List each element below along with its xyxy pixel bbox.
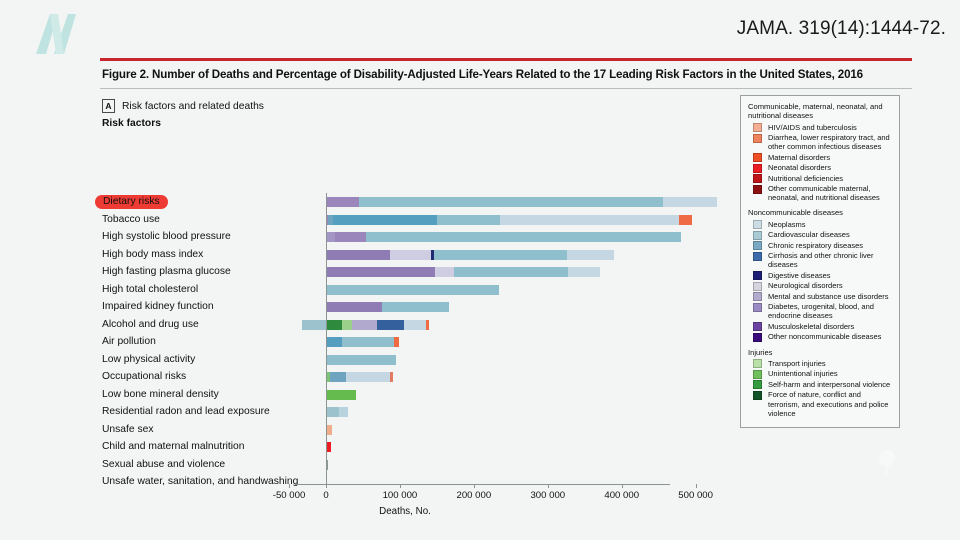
risk-factor-label: High fasting plasma glucose bbox=[102, 263, 231, 281]
legend-label: Force of nature, conflict and terrorism,… bbox=[768, 390, 893, 418]
legend-group-title: Communicable, maternal, neonatal, and nu… bbox=[748, 102, 893, 121]
x-axis-tick-label: 0 bbox=[323, 490, 328, 501]
legend-item[interactable]: Neoplasms bbox=[748, 220, 893, 230]
risk-factor-label: Residential radon and lead exposure bbox=[102, 403, 270, 421]
legend-label: Diarrhea, lower respiratory tract, and o… bbox=[768, 133, 893, 151]
legend-item[interactable]: Unintentional injuries bbox=[748, 369, 893, 379]
legend-label: Nutritional deficiencies bbox=[768, 174, 843, 183]
legend-label: Musculoskeletal disorders bbox=[768, 322, 854, 331]
legend-swatch bbox=[753, 380, 762, 389]
legend-label: Self-harm and interpersonal violence bbox=[768, 380, 890, 389]
x-axis-title: Deaths, No. bbox=[379, 506, 431, 517]
bar-segment bbox=[500, 215, 679, 225]
legend-group-title: Noncommunicable diseases bbox=[748, 208, 893, 217]
legend-swatch bbox=[753, 370, 762, 379]
legend-item[interactable]: Self-harm and interpersonal violence bbox=[748, 380, 893, 390]
legend-label: Mental and substance use disorders bbox=[768, 292, 889, 301]
chart-plot-area: Dietary risksTobacco useHigh systolic bl… bbox=[100, 193, 740, 493]
x-axis-tick bbox=[696, 484, 697, 488]
risk-factor-label: Unsafe sex bbox=[102, 421, 154, 439]
bar-segment bbox=[434, 250, 567, 260]
x-axis-line bbox=[295, 484, 670, 485]
legend-label: Transport injuries bbox=[768, 359, 826, 368]
bar-segment bbox=[663, 197, 717, 207]
legend-item[interactable]: Other communicable maternal, neonatal, a… bbox=[748, 184, 893, 202]
bar-segment bbox=[435, 267, 454, 277]
legend-item[interactable]: Cirrhosis and other chronic liver diseas… bbox=[748, 251, 893, 269]
risk-factor-label: Impaired kidney function bbox=[102, 298, 214, 316]
chart-legend: Communicable, maternal, neonatal, and nu… bbox=[740, 95, 900, 428]
risk-factor-label: Occupational risks bbox=[102, 368, 186, 386]
legend-label: Neurological disorders bbox=[768, 281, 843, 290]
x-axis-tick bbox=[289, 484, 290, 488]
legend-label: Neoplasms bbox=[768, 220, 806, 229]
legend-swatch bbox=[753, 134, 762, 143]
legend-item[interactable]: Nutritional deficiencies bbox=[748, 174, 893, 184]
legend-swatch bbox=[753, 292, 762, 301]
bar-segment bbox=[437, 215, 500, 225]
risk-factor-label: Child and maternal malnutrition bbox=[102, 438, 245, 456]
bar-segment bbox=[326, 267, 435, 277]
bar-segment bbox=[339, 407, 348, 417]
zero-axis-line bbox=[326, 193, 327, 484]
risk-factor-label: Low physical activity bbox=[102, 351, 195, 369]
legend-label: Unintentional injuries bbox=[768, 369, 838, 378]
x-axis-tick bbox=[474, 484, 475, 488]
bar-segment bbox=[390, 372, 392, 382]
panel-letter-badge: A bbox=[102, 99, 115, 113]
x-axis-tick-label: 200 000 bbox=[457, 490, 492, 501]
legend-swatch bbox=[753, 282, 762, 291]
x-axis-tick-label: 400 000 bbox=[604, 490, 639, 501]
risk-factor-label: Low bone mineral density bbox=[102, 386, 219, 404]
bar-segment bbox=[342, 337, 394, 347]
bar-segment bbox=[404, 320, 426, 330]
legend-label: Other noncommunicable diseases bbox=[768, 332, 881, 341]
legend-label: Diabetes, urogenital, blood, and endocri… bbox=[768, 302, 893, 320]
legend-label: Chronic respiratory diseases bbox=[768, 241, 863, 250]
legend-item[interactable]: Other noncommunicable diseases bbox=[748, 332, 893, 342]
bar-segment bbox=[326, 390, 356, 400]
figure-panel: Figure 2. Number of Deaths and Percentag… bbox=[100, 62, 912, 502]
legend-swatch bbox=[753, 303, 762, 312]
bar-segment bbox=[326, 320, 342, 330]
legend-swatch bbox=[753, 123, 762, 132]
legend-swatch bbox=[753, 220, 762, 229]
bar-segment bbox=[359, 197, 664, 207]
x-axis-tick bbox=[622, 484, 623, 488]
bar-segment bbox=[679, 215, 692, 225]
legend-swatch bbox=[753, 322, 762, 331]
bar-segment bbox=[335, 232, 366, 242]
x-axis-tick bbox=[400, 484, 401, 488]
legend-swatch bbox=[753, 359, 762, 368]
x-axis-tick-label: 300 000 bbox=[530, 490, 565, 501]
legend-item[interactable]: Cardiovascular diseases bbox=[748, 230, 893, 240]
n-logo bbox=[24, 10, 86, 56]
legend-swatch bbox=[753, 164, 762, 173]
bar-segment bbox=[394, 337, 399, 347]
legend-swatch bbox=[753, 174, 762, 183]
title-divider bbox=[100, 88, 912, 89]
bar-segment bbox=[382, 302, 449, 312]
legend-label: Cardiovascular diseases bbox=[768, 230, 850, 239]
journal-citation: JAMA. 319(14):1444-72. bbox=[737, 18, 946, 40]
x-axis-tick-label: -50 000 bbox=[273, 490, 306, 501]
bar-segment bbox=[333, 215, 437, 225]
legend-swatch bbox=[753, 241, 762, 250]
legend-label: Cirrhosis and other chronic liver diseas… bbox=[768, 251, 893, 269]
bar-segment bbox=[326, 197, 359, 207]
bar-segment bbox=[346, 372, 390, 382]
figure-title: Figure 2. Number of Deaths and Percentag… bbox=[100, 62, 912, 88]
bar-segment bbox=[326, 285, 499, 295]
bar-segment bbox=[330, 372, 346, 382]
bar-segment bbox=[366, 232, 681, 242]
risk-factor-label: Unsafe water, sanitation, and handwashin… bbox=[102, 473, 298, 491]
legend-item[interactable]: Mental and substance use disorders bbox=[748, 292, 893, 302]
risk-factor-label: Alcohol and drug use bbox=[102, 316, 199, 334]
bar-segment bbox=[326, 302, 382, 312]
legend-item[interactable]: Maternal disorders bbox=[748, 153, 893, 163]
legend-swatch bbox=[753, 153, 762, 162]
legend-label: HIV/AIDS and tuberculosis bbox=[768, 123, 857, 132]
legend-item[interactable]: Digestive diseases bbox=[748, 271, 893, 281]
risk-factor-label: Sexual abuse and violence bbox=[102, 456, 225, 474]
legend-item[interactable]: Force of nature, conflict and terrorism,… bbox=[748, 390, 893, 418]
legend-label: Maternal disorders bbox=[768, 153, 830, 162]
legend-label: Digestive diseases bbox=[768, 271, 831, 280]
risk-factor-label: Air pollution bbox=[102, 333, 156, 351]
bar-segment bbox=[390, 250, 431, 260]
watermark-icon bbox=[874, 446, 900, 476]
legend-item[interactable]: HIV/AIDS and tuberculosis bbox=[748, 123, 893, 133]
bar-segment bbox=[567, 250, 614, 260]
legend-item[interactable]: Musculoskeletal disorders bbox=[748, 322, 893, 332]
bar-segment bbox=[454, 267, 569, 277]
legend-item[interactable]: Diarrhea, lower respiratory tract, and o… bbox=[748, 133, 893, 151]
legend-swatch bbox=[753, 231, 762, 240]
legend-item[interactable]: Chronic respiratory diseases bbox=[748, 241, 893, 251]
legend-label: Neonatal disorders bbox=[768, 163, 831, 172]
legend-swatch bbox=[753, 185, 762, 194]
bar-segment bbox=[342, 320, 352, 330]
slide-header: JAMA. 319(14):1444-72. bbox=[0, 0, 960, 62]
bar-segment bbox=[326, 250, 390, 260]
bar-segment bbox=[426, 320, 429, 330]
x-axis-tick bbox=[548, 484, 549, 488]
legend-item[interactable]: Transport injuries bbox=[748, 359, 893, 369]
legend-item[interactable]: Diabetes, urogenital, blood, and endocri… bbox=[748, 302, 893, 320]
chart-bars bbox=[326, 193, 740, 493]
legend-item[interactable]: Neonatal disorders bbox=[748, 163, 893, 173]
bar-segment bbox=[377, 320, 404, 330]
legend-item[interactable]: Neurological disorders bbox=[748, 281, 893, 291]
risk-factor-label: High systolic blood pressure bbox=[102, 228, 231, 246]
legend-group-title: Injuries bbox=[748, 348, 893, 357]
x-axis-tick bbox=[326, 484, 327, 488]
bar-segment bbox=[326, 407, 339, 417]
legend-swatch bbox=[753, 271, 762, 280]
risk-factor-label: High total cholesterol bbox=[102, 281, 198, 299]
x-axis-tick-label: 500 000 bbox=[678, 490, 713, 501]
legend-swatch bbox=[753, 333, 762, 342]
bar-segment bbox=[326, 337, 342, 347]
legend-swatch bbox=[753, 252, 762, 261]
bar-segment bbox=[352, 320, 377, 330]
legend-swatch bbox=[753, 391, 762, 400]
risk-factor-label: Dietary risks bbox=[95, 195, 168, 209]
bar-segment bbox=[326, 355, 396, 365]
bar-segment bbox=[302, 320, 326, 330]
bar-segment bbox=[568, 267, 600, 277]
x-axis-tick-label: 100 000 bbox=[383, 490, 418, 501]
risk-factor-label: High body mass index bbox=[102, 246, 203, 264]
header-rule bbox=[100, 58, 912, 61]
panel-caption: Risk factors and related deaths bbox=[122, 101, 264, 112]
risk-factor-label: Tobacco use bbox=[102, 211, 160, 229]
legend-label: Other communicable maternal, neonatal, a… bbox=[768, 184, 893, 202]
